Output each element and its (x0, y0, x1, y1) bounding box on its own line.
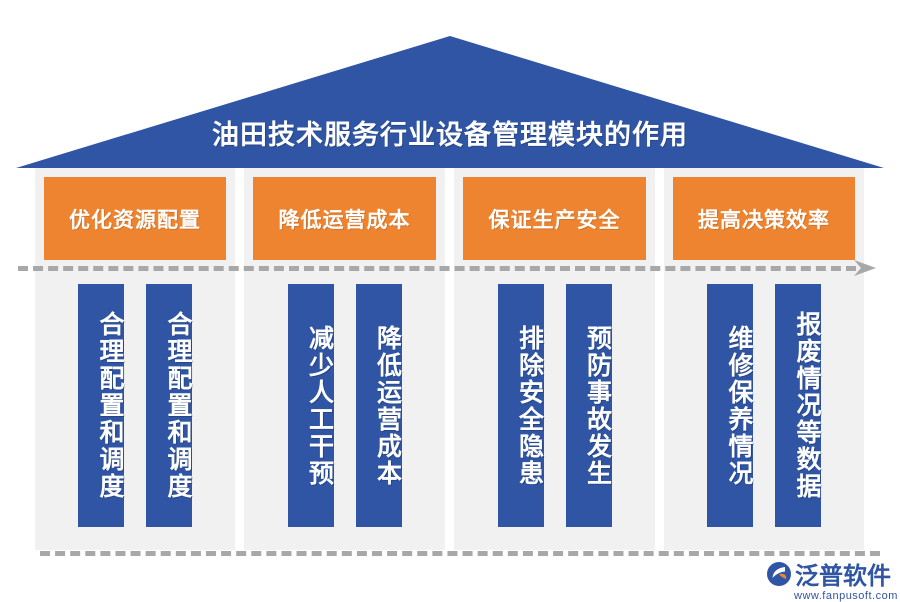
column-gap-3 (655, 168, 664, 550)
right-edge-spacer (864, 168, 899, 550)
column-1: 优化资源配置 合理配置和调度 合理配置和调度 (35, 168, 235, 550)
column-header-4[interactable]: 提高决策效率 (673, 177, 855, 260)
column-items-4: 维修保养情况 报废情况等数据 (664, 284, 864, 527)
pillar-item-3-1[interactable]: 排除安全隐患 (498, 284, 544, 527)
pillar-item-3-2[interactable]: 预防事故发生 (566, 284, 612, 527)
brand-logo: 泛普软件 www.fanpusoft.com (766, 556, 898, 602)
column-header-3[interactable]: 保证生产安全 (463, 177, 646, 260)
divider-dashed-bottom (40, 551, 880, 556)
column-gap-1 (235, 168, 244, 550)
column-header-1[interactable]: 优化资源配置 (44, 177, 226, 260)
column-header-2[interactable]: 降低运营成本 (253, 177, 436, 260)
brand-name: 泛普软件 (795, 556, 891, 591)
column-2: 降低运营成本 减少人工干预 降低运营成本 (244, 168, 445, 550)
pillar-item-4-1[interactable]: 维修保养情况 (707, 284, 753, 527)
column-items-2: 减少人工干预 降低运营成本 (244, 284, 445, 527)
brand-mark-icon (766, 561, 792, 587)
page-title: 油田技术服务行业设备管理模块的作用 (0, 113, 900, 152)
column-items-1: 合理配置和调度 合理配置和调度 (35, 284, 235, 527)
column-items-3: 排除安全隐患 预防事故发生 (454, 284, 655, 527)
columns-container: 优化资源配置 合理配置和调度 合理配置和调度 降低运营成本 减少人工干预 降低运… (0, 168, 900, 550)
pillar-item-1-1[interactable]: 合理配置和调度 (78, 284, 124, 527)
column-3: 保证生产安全 排除安全隐患 预防事故发生 (454, 168, 655, 550)
pillar-item-2-1[interactable]: 减少人工干预 (288, 284, 334, 527)
infographic-canvas: 油田技术服务行业设备管理模块的作用 泛普软件 SOFTWARE 优化资源配置 合… (0, 0, 900, 600)
divider-dashed-top (18, 266, 856, 271)
pillar-item-2-2[interactable]: 降低运营成本 (356, 284, 402, 527)
brand-url: www.fanpusoft.com (794, 590, 898, 602)
left-edge-spacer (0, 168, 35, 550)
column-gap-2 (445, 168, 454, 550)
pillar-item-4-2[interactable]: 报废情况等数据 (775, 284, 821, 527)
pillar-item-1-2[interactable]: 合理配置和调度 (146, 284, 192, 527)
column-4: 提高决策效率 维修保养情况 报废情况等数据 (664, 168, 864, 550)
arrow-right-icon (852, 257, 880, 279)
brand-logo-row: 泛普软件 (766, 556, 891, 591)
